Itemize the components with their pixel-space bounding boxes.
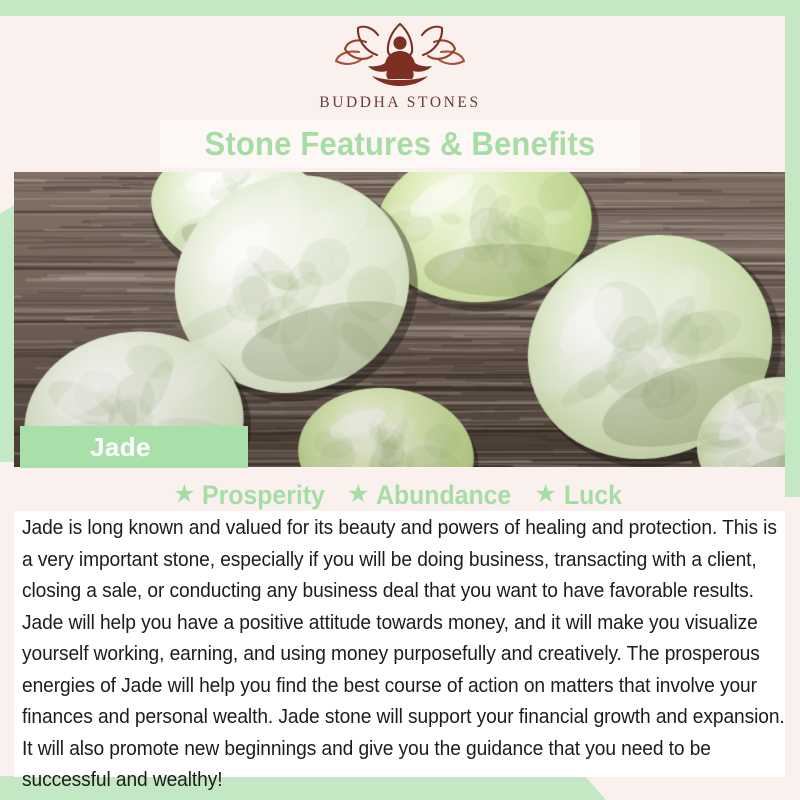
- description-text: Jade is long known and valued for its be…: [22, 513, 792, 797]
- star-icon: ★: [347, 482, 369, 507]
- stone-name-badge: Jade: [20, 426, 248, 468]
- page-title: Stone Features & Benefits: [205, 125, 596, 163]
- keyword-label: Abundance: [376, 480, 511, 511]
- stone-name-text: Jade: [90, 432, 151, 463]
- description-panel: Jade is long known and valued for its be…: [14, 511, 785, 777]
- keyword-label: Luck: [564, 480, 622, 511]
- star-icon: ★: [534, 482, 556, 507]
- title-banner: Stone Features & Benefits: [160, 120, 640, 168]
- stone-photo-canvas: [14, 172, 785, 467]
- brand-logo: BUDDHA STONES: [0, 22, 800, 112]
- keyword-list: ★ Prosperity ★ Abundance ★ Luck: [0, 480, 800, 511]
- keyword-label: Prosperity: [202, 480, 325, 511]
- keyword-item-0: ★ Prosperity: [173, 480, 336, 511]
- decorative-band-top: [0, 0, 800, 16]
- star-icon: ★: [173, 482, 195, 507]
- keyword-item-2: ★ Luck: [534, 480, 626, 511]
- brand-wordmark: BUDDHA STONES: [0, 94, 800, 112]
- stone-photo: [14, 172, 785, 467]
- keyword-item-1: ★ Abundance: [347, 480, 523, 511]
- stone-info-card: BUDDHA STONES Stone Features & Benefits …: [0, 0, 800, 800]
- lotus-meditation-icon: [332, 22, 468, 88]
